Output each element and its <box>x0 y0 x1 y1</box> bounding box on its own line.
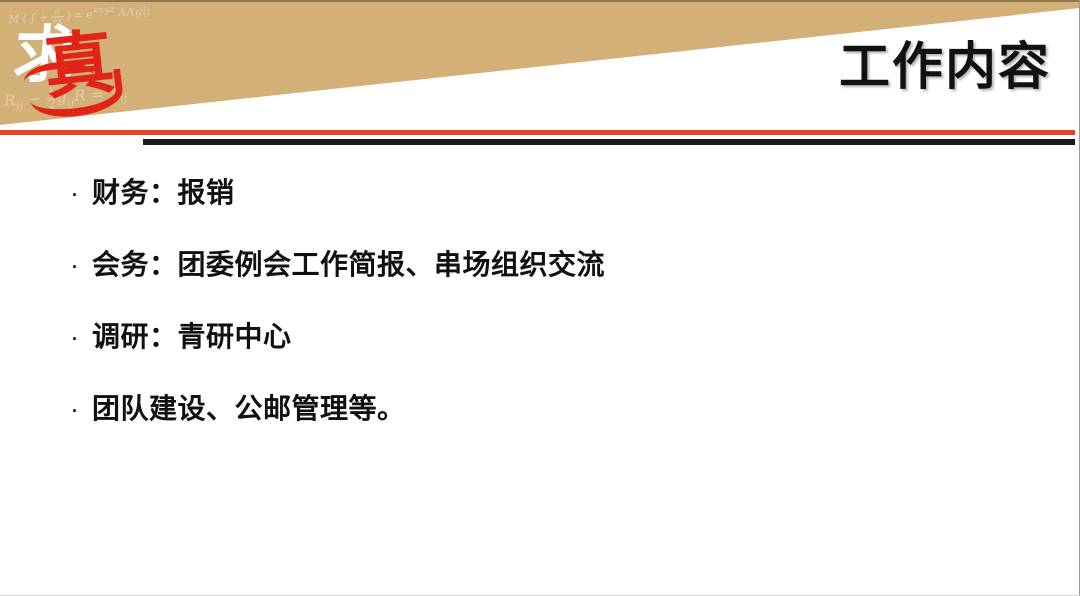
bullet-item: · 团队建设、公邮管理等。 <box>70 388 1039 430</box>
bullet-marker-icon: · <box>70 244 92 286</box>
bullet-text: 会务：团委例会工作简报、串场组织交流 <box>92 244 605 286</box>
bullet-item: · 调研：青研中心 <box>70 316 1039 358</box>
bullet-text: 财务：报销 <box>92 172 235 214</box>
bullet-item: · 财务：报销 <box>70 172 1039 214</box>
bullet-item: · 会务：团委例会工作简报、串场组织交流 <box>70 244 1039 286</box>
slide-bullet-list: · 财务：报销 · 会务：团委例会工作简报、串场组织交流 · 调研：青研中心 ·… <box>70 172 1039 430</box>
bullet-marker-icon: · <box>70 316 92 358</box>
bullet-text: 调研：青研中心 <box>92 316 292 358</box>
bullet-marker-icon: · <box>70 172 92 214</box>
organization-logo: M ( ∫ + ∂∂x ) = exxyz ΛΛgij 求 真 Rij − 12… <box>0 0 150 126</box>
slide-title: 工作内容 <box>839 41 1051 92</box>
divider-red-rule <box>0 130 1075 135</box>
header-banner-top-edge <box>0 0 1080 2</box>
bullet-text: 团队建设、公邮管理等。 <box>92 388 406 430</box>
divider-black-rule <box>143 139 1075 145</box>
slide-canvas: M ( ∫ + ∂∂x ) = exxyz ΛΛgij 求 真 Rij − 12… <box>0 0 1080 596</box>
bullet-marker-icon: · <box>70 388 92 430</box>
